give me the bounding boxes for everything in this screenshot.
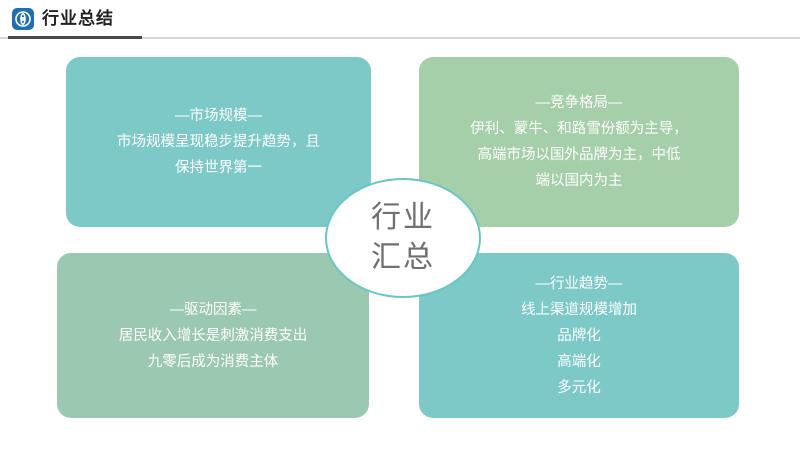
- header-divider-accent: [8, 36, 142, 39]
- quadrant-card-text: —竞争格局— 伊利、蒙牛、和路雪份额为主导， 高端市场以国外品牌为主，中低 端以…: [441, 90, 717, 194]
- circular-badge-icon: [12, 8, 34, 30]
- quadrant-card-text: —驱动因素— 居民收入增长是刺激消费支出 九零后成为消费主体: [79, 297, 347, 375]
- quadrant-card-competition: —竞争格局— 伊利、蒙牛、和路雪份额为主导， 高端市场以国外品牌为主，中低 端以…: [419, 57, 739, 227]
- quadrant-card-market-size: —市场规模— 市场规模呈现稳步提升趋势，且 保持世界第一: [66, 57, 371, 227]
- quadrant-card-trends: —行业趋势— 线上渠道规模增加 品牌化 高端化 多元化: [419, 253, 739, 418]
- page-header: 行业总结: [0, 0, 800, 38]
- page-title: 行业总结: [42, 6, 114, 32]
- quadrant-card-text: —行业趋势— 线上渠道规模增加 品牌化 高端化 多元化: [441, 271, 717, 401]
- center-summary-circle: 行业 汇总: [325, 178, 481, 298]
- quadrant-card-drivers: —驱动因素— 居民收入增长是刺激消费支出 九零后成为消费主体: [57, 253, 369, 418]
- quadrant-card-text: —市场规模— 市场规模呈现稳步提升趋势，且 保持世界第一: [88, 103, 349, 181]
